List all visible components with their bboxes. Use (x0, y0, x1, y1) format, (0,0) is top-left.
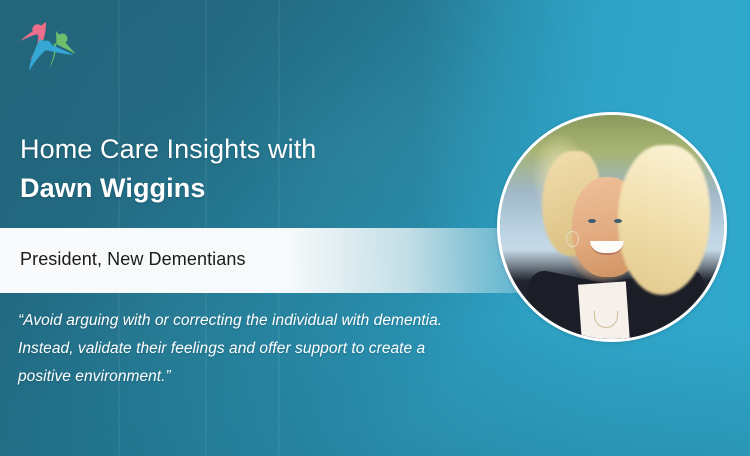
headline-line-1: Home Care Insights with (20, 132, 490, 168)
avatar-eye-right (614, 219, 622, 223)
quote-line-2: Instead, validate their feelings and off… (18, 335, 518, 363)
quote-block: “Avoid arguing with or correcting the in… (18, 307, 518, 392)
three-figures-logo (16, 16, 88, 78)
avatar (497, 112, 727, 342)
quote-line-3: positive environment.” (18, 363, 518, 391)
home-care-insights-banner: Home Care Insights with Dawn Wiggins Pre… (0, 0, 750, 456)
role-title: President, New Dementians (20, 249, 246, 270)
logo-figure-blue (29, 39, 74, 71)
quote-line-1: “Avoid arguing with or correcting the in… (18, 307, 518, 335)
headline-line-2: Dawn Wiggins (20, 171, 490, 207)
avatar-eye-left (588, 219, 596, 223)
avatar-earring (566, 231, 579, 247)
page-title: Home Care Insights with Dawn Wiggins (20, 132, 490, 206)
